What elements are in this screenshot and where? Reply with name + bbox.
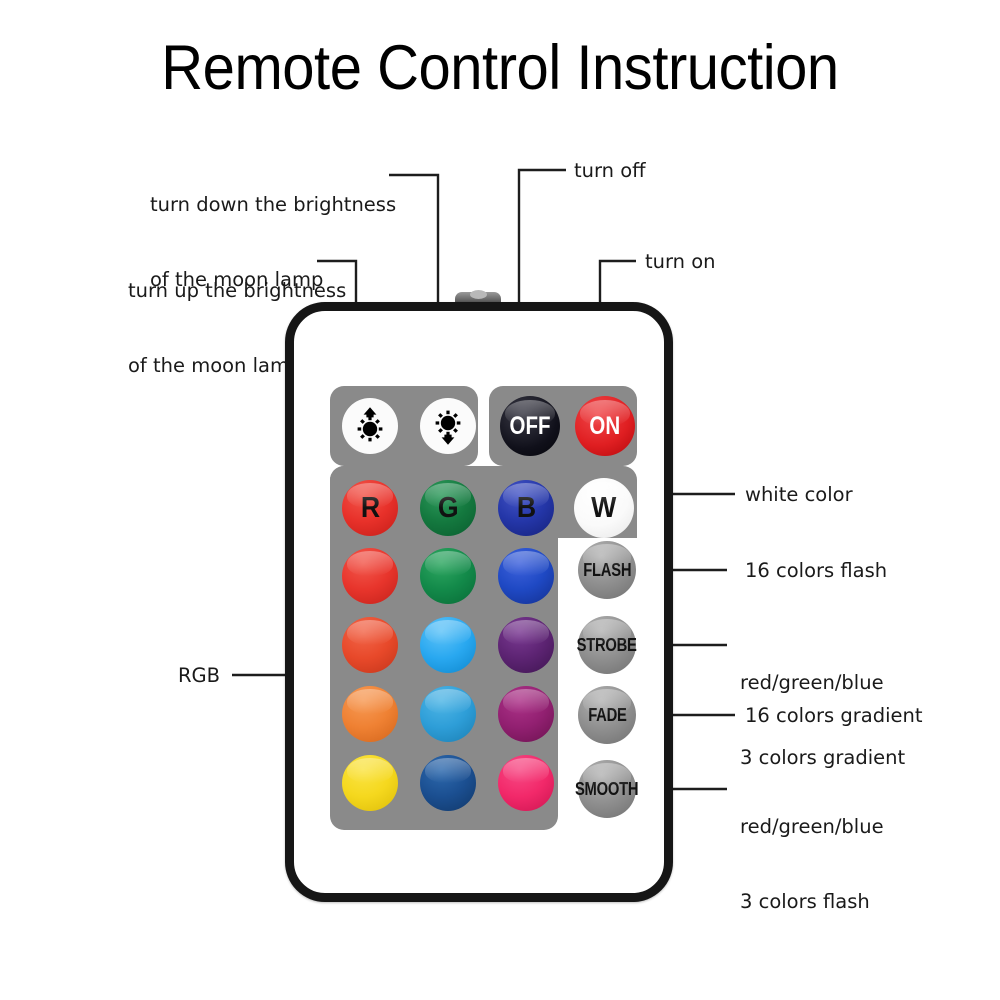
color-button-pink[interactable]	[498, 755, 554, 811]
color-button-dark-blue[interactable]	[420, 755, 476, 811]
off-button-label: OFF	[510, 412, 551, 441]
instruction-diagram: Remote Control Instruction turn down the…	[0, 0, 1000, 1000]
strobe-button-label: STROBE	[577, 635, 637, 656]
color-button-red-label: R	[360, 492, 379, 525]
color-button-magenta[interactable]	[498, 686, 554, 742]
color-button-yellow[interactable]	[342, 755, 398, 811]
ir-emitter-dot	[470, 290, 487, 299]
smooth-button[interactable]: SMOOTH	[578, 760, 636, 818]
callout-turn-on: turn on	[645, 249, 716, 274]
strobe-button[interactable]: STROBE	[578, 616, 636, 674]
brightness-down-icon	[426, 404, 470, 448]
flash-button-label: FLASH	[583, 560, 631, 581]
color-button-sky-blue[interactable]	[420, 686, 476, 742]
off-button[interactable]: OFF	[500, 396, 560, 456]
callout-fade: 16 colors gradient	[745, 703, 923, 728]
callout-smooth-line2: 3 colors flash	[740, 889, 884, 914]
callout-strobe-line1: red/green/blue	[740, 670, 905, 695]
color-button-white-label: W	[591, 492, 616, 525]
brightness-up-button[interactable]	[342, 398, 398, 454]
smooth-button-label: SMOOTH	[575, 779, 638, 800]
flash-button[interactable]: FLASH	[578, 541, 636, 599]
fade-button[interactable]: FADE	[578, 686, 636, 744]
color-button-blue-2[interactable]	[498, 548, 554, 604]
fade-button-label: FADE	[588, 705, 626, 726]
callout-turn-down-line1: turn down the brightness	[150, 192, 396, 217]
callout-white-color: white color	[745, 482, 853, 507]
color-button-cyan[interactable]	[420, 617, 476, 673]
callout-smooth-line1: red/green/blue	[740, 814, 884, 839]
color-button-orange[interactable]	[342, 686, 398, 742]
on-button[interactable]: ON	[575, 396, 635, 456]
color-button-red[interactable]: R	[342, 480, 398, 536]
brightness-down-button[interactable]	[420, 398, 476, 454]
callout-smooth: red/green/blue 3 colors flash	[740, 764, 884, 964]
on-button-label: ON	[590, 412, 621, 441]
color-button-green[interactable]: G	[420, 480, 476, 536]
color-button-green-label: G	[438, 492, 459, 525]
callout-turn-off: turn off	[574, 158, 646, 183]
color-button-green-2[interactable]	[420, 548, 476, 604]
callout-flash: 16 colors flash	[745, 558, 887, 583]
color-button-blue[interactable]: B	[498, 480, 554, 536]
color-button-blue-label: B	[516, 492, 535, 525]
brightness-up-icon	[348, 404, 392, 448]
callout-turn-up-line1: turn up the brightness	[128, 278, 346, 303]
color-button-orange-red[interactable]	[342, 617, 398, 673]
color-button-purple[interactable]	[498, 617, 554, 673]
color-button-white[interactable]: W	[574, 478, 634, 538]
color-button-red-2[interactable]	[342, 548, 398, 604]
callout-rgb: RGB	[178, 663, 220, 688]
